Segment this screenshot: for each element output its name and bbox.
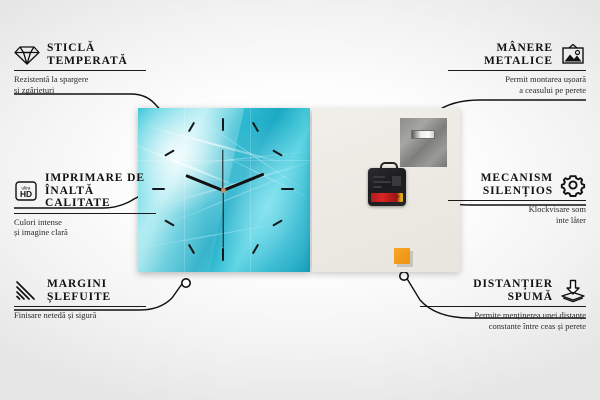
feature-title: MÂNERE METALICE: [484, 42, 553, 67]
feature-rule: [448, 70, 586, 71]
mechanism-hanging-loop: [380, 162, 398, 173]
diamond-icon: [14, 44, 40, 66]
metal-hanger-plate: [400, 118, 447, 167]
orange-foam-spacer: [394, 248, 410, 264]
mechanism-detail: [373, 176, 385, 178]
clock-center-hub: [221, 188, 226, 193]
glass-seam-v1: [184, 108, 185, 272]
clock-tick-5: [252, 244, 259, 255]
hanger-slot: [411, 130, 435, 139]
press-down-pad-icon: [560, 279, 586, 303]
feature-rule: [14, 213, 156, 214]
clock-tick-3: [281, 188, 294, 190]
connector-dot-margini: [182, 279, 190, 287]
feature-title: STICLĂ TEMPERATĂ: [47, 42, 128, 67]
ultra-hd-icon: ultra HD: [14, 180, 38, 202]
feature-rule: [14, 70, 146, 71]
gear-icon: [560, 173, 586, 197]
picture-hanger-icon: [560, 43, 586, 67]
clock-tick-6: [222, 248, 224, 261]
feature-subtitle: Klockvisare som inte låter: [448, 204, 586, 225]
feature-header: ultra HD IMPRIMARE DE ÎNALTĂ CALITATE: [14, 172, 156, 210]
infographic-canvas: + STICLĂ TEMPERATĂ Rezistentă la sparger…: [0, 0, 600, 400]
clock-tick-12: [222, 118, 224, 131]
feature-subtitle: Culori intense și imagine clară: [14, 217, 156, 238]
feature-mecanism-silentios: MECANISM SILENȚIOS Klockvisare som inte …: [448, 172, 586, 225]
feature-subtitle: Permit montarea ușoară a ceasului pe per…: [448, 74, 586, 95]
mechanism-detail: [392, 176, 401, 186]
connector-dot-distantier: [400, 272, 408, 280]
feature-header: MARGINI ȘLEFUITE: [14, 278, 146, 303]
feature-subtitle: Finisare netedă și sigură: [14, 310, 146, 321]
feature-distantier-spuma: DISTANȚIER SPUMĂ Permite menținerea unei…: [420, 278, 586, 331]
feature-subtitle: Permite menținerea unei distanțe constan…: [420, 310, 586, 331]
feature-subtitle: Rezistentă la spargere și zgârieturi: [14, 74, 146, 95]
feature-rule: [14, 306, 146, 307]
feature-manere-metalice: MÂNERE METALICE Permit montarea ușoară a…: [448, 42, 586, 95]
clock-face-feather-turquoise: [138, 108, 310, 272]
mechanism-detail: [373, 186, 382, 188]
battery-plus-label: +: [396, 194, 400, 201]
mechanism-battery: +: [371, 193, 403, 202]
feature-title: MARGINI ȘLEFUITE: [47, 278, 111, 303]
second-hand: [222, 190, 223, 248]
feature-rule: [420, 306, 586, 307]
feature-title: MECANISM SILENȚIOS: [481, 172, 553, 197]
feature-rule: [448, 200, 586, 201]
feature-imprimare-inalta-calitate: ultra HD IMPRIMARE DE ÎNALTĂ CALITATE Cu…: [14, 172, 156, 238]
feature-header: MECANISM SILENȚIOS: [448, 172, 586, 197]
svg-text:HD: HD: [20, 189, 32, 199]
clock-tick-1: [252, 122, 259, 133]
quartz-clock-mechanism: +: [368, 168, 406, 206]
feature-header: MÂNERE METALICE: [448, 42, 586, 67]
feature-sticla-temperata: STICLĂ TEMPERATĂ Rezistentă la spargere …: [14, 42, 146, 95]
feature-title: IMPRIMARE DE ÎNALTĂ CALITATE: [45, 172, 156, 210]
feature-margini-slefuite: MARGINI ȘLEFUITE Finisare netedă și sigu…: [14, 278, 146, 321]
feature-header: STICLĂ TEMPERATĂ: [14, 42, 146, 67]
mechanism-detail: [373, 181, 391, 183]
feature-header: DISTANȚIER SPUMĂ: [420, 278, 586, 303]
beveled-edge-icon: [14, 280, 40, 302]
feature-title: DISTANȚIER SPUMĂ: [473, 278, 553, 303]
